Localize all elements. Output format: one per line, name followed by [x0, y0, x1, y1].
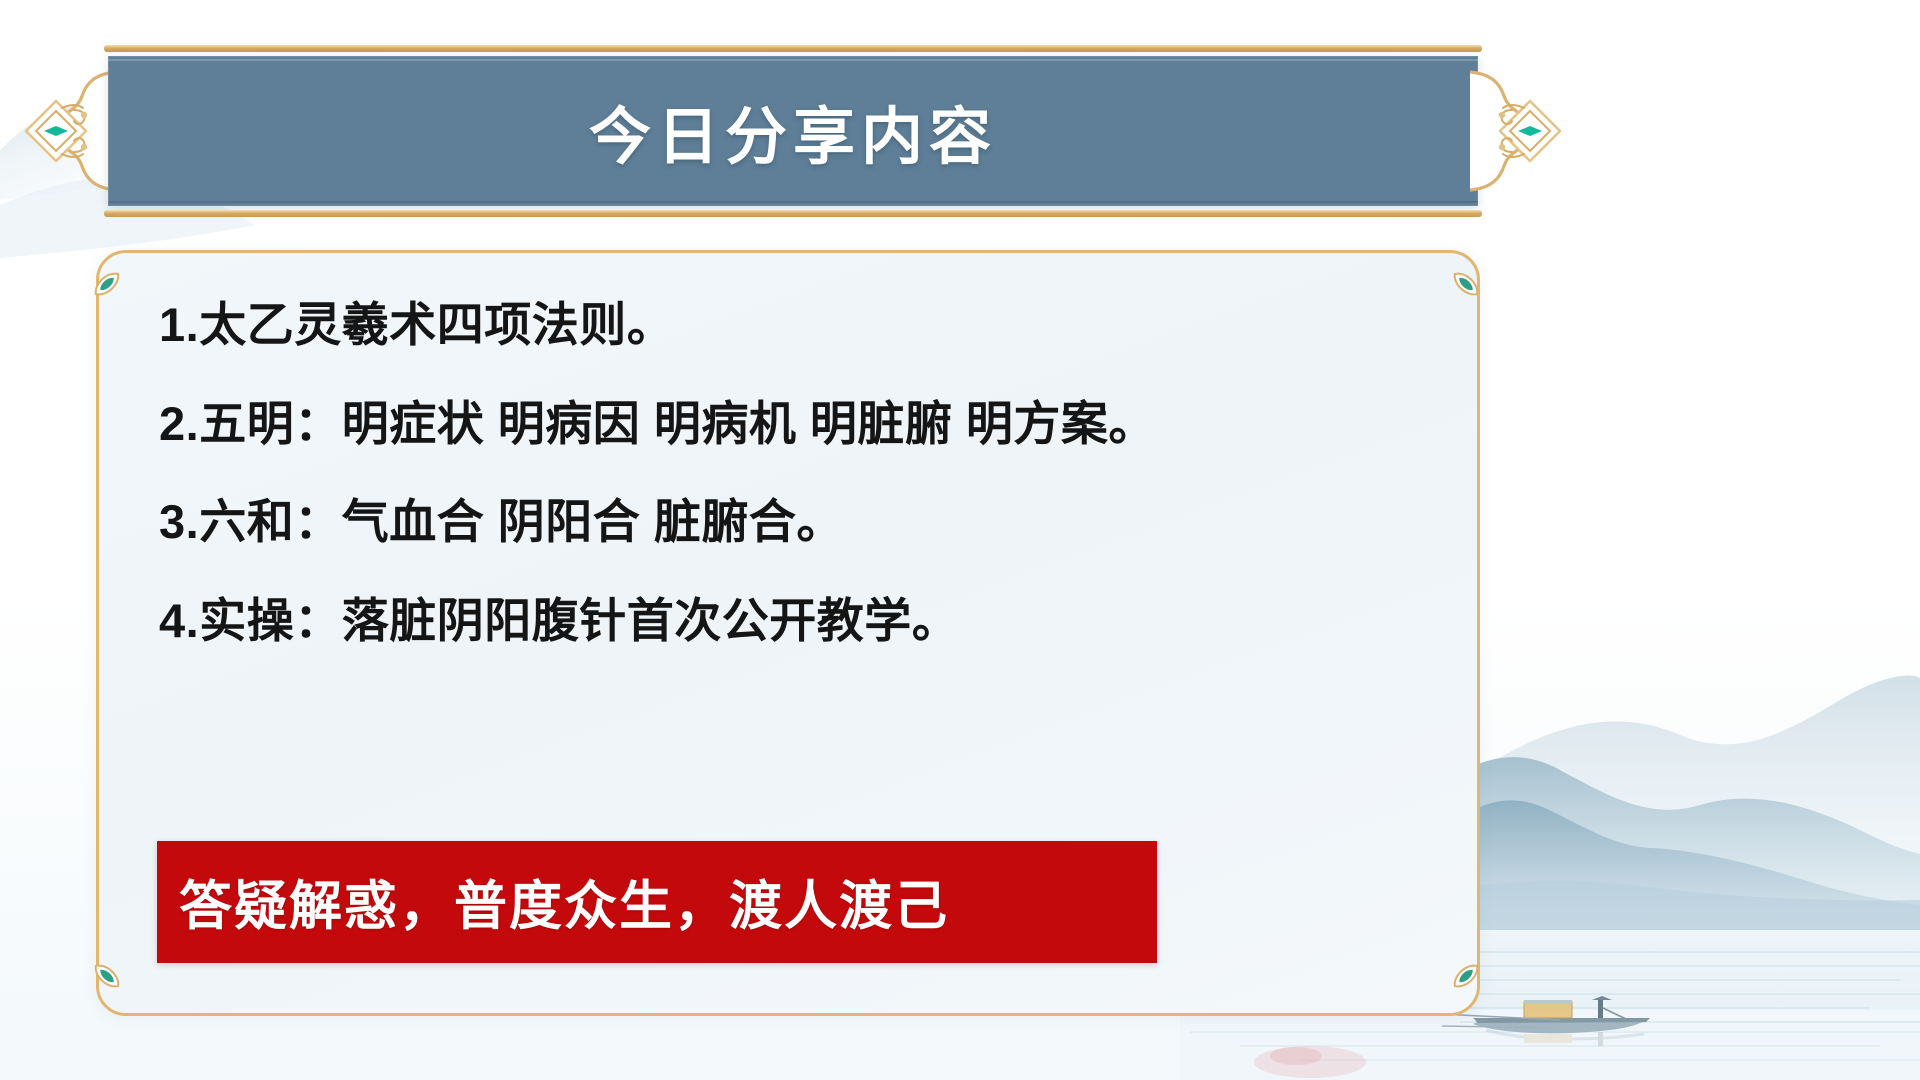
- card-corner-leaf-icon: [87, 956, 127, 995]
- banner-right-ornament-icon: [1464, 66, 1596, 196]
- page-title: 今日分享内容: [108, 56, 1478, 206]
- highlight-banner-label: 答疑解惑，普度众生，渡人渡己: [157, 864, 949, 940]
- card-corner-leaf-icon: [1446, 264, 1486, 303]
- bullet-list: 1.太乙灵羲术四项法则。 2.五明：明症状 明病因 明病机 明脏腑 明方案。 3…: [159, 299, 1429, 648]
- card-corner-leaf-icon: [87, 264, 127, 303]
- list-item: 3.六和：气血合 阴阳合 脏腑合。: [159, 496, 1429, 549]
- banner-gold-bottom-rule: [104, 210, 1482, 217]
- slide-canvas: 今日分享内容: [0, 0, 1920, 1080]
- banner-gold-top-rule: [104, 45, 1482, 52]
- list-item: 4.实操：落脏阴阳腹针首次公开教学。: [159, 595, 1429, 648]
- banner-left-ornament-icon: [0, 66, 122, 196]
- highlight-banner: 答疑解惑，普度众生，渡人渡己: [157, 841, 1157, 963]
- list-item: 2.五明：明症状 明病因 明病机 明脏腑 明方案。: [159, 398, 1429, 451]
- content-card: 1.太乙灵羲术四项法则。 2.五明：明症状 明病因 明病机 明脏腑 明方案。 3…: [96, 250, 1480, 1016]
- list-item: 1.太乙灵羲术四项法则。: [159, 299, 1429, 352]
- card-corner-leaf-icon: [1446, 956, 1486, 995]
- title-banner: 今日分享内容: [108, 56, 1478, 206]
